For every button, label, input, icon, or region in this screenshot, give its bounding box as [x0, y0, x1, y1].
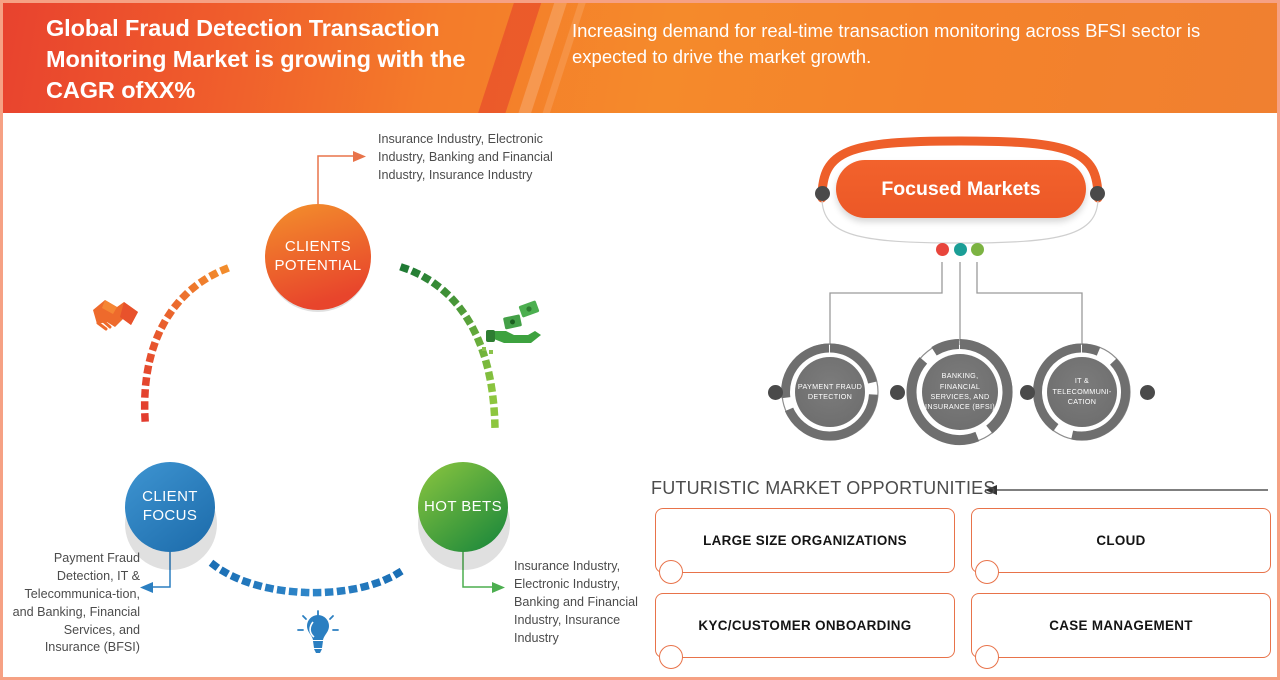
market-node-bfsi[interactable]: BANKING, FINANCIAL SERVICES, AND INSURAN…	[922, 354, 998, 430]
opportunity-box-kyc-customer-onboarding[interactable]: KYC/CUSTOMER ONBOARDING	[655, 593, 955, 658]
market-node-1-dot-right	[890, 385, 905, 400]
opportunity-marker-4	[975, 645, 999, 669]
dotted-arc-green	[404, 268, 495, 430]
stem-dot-red	[936, 243, 949, 256]
dotted-arc-orange	[145, 266, 234, 418]
header-subtitle: Increasing demand for real-time transact…	[572, 18, 1232, 71]
market-node-2-dot-right	[1020, 385, 1035, 400]
opportunity-marker-1	[659, 560, 683, 584]
opportunity-label-3: KYC/CUSTOMER ONBOARDING	[698, 618, 911, 633]
opportunity-marker-2	[975, 560, 999, 584]
client-focus-node[interactable]: CLIENT FOCUS	[125, 462, 215, 552]
leader-arrow-clients-potential	[353, 151, 366, 162]
focused-markets-label: Focused Markets	[881, 178, 1040, 201]
market-node-1-label: PAYMENT FRAUD DETECTION	[794, 382, 866, 403]
opportunity-box-case-management[interactable]: CASE MANAGEMENT	[971, 593, 1271, 658]
infographic-page: Global Fraud Detection Transaction Monit…	[0, 0, 1280, 680]
market-node-3-label: IT & TELECOMMUNI- CATION	[1046, 376, 1118, 407]
clients-potential-label: CLIENTS POTENTIAL	[265, 238, 371, 276]
market-node-payment-fraud-detection[interactable]: PAYMENT FRAUD DETECTION	[794, 356, 866, 428]
market-node-1-dot-left	[768, 385, 783, 400]
stem-line-right	[977, 262, 1082, 345]
opportunities-heading: FUTURISTIC MARKET OPPORTUNITIES	[651, 478, 996, 499]
focused-markets-pill[interactable]: Focused Markets	[836, 160, 1086, 218]
opportunity-marker-3	[659, 645, 683, 669]
opportunity-label-2: CLOUD	[1096, 533, 1145, 548]
clients-potential-node[interactable]: CLIENTS POTENTIAL	[265, 204, 371, 310]
page-title: Global Fraud Detection Transaction Monit…	[46, 13, 516, 106]
leader-arrow-client-focus	[140, 582, 153, 593]
opportunity-box-cloud[interactable]: CLOUD	[971, 508, 1271, 573]
opportunity-box-large-size-organizations[interactable]: LARGE SIZE ORGANIZATIONS	[655, 508, 955, 573]
dotted-arc-blue	[214, 565, 400, 593]
market-node-it-telecommunication[interactable]: IT & TELECOMMUNI- CATION	[1046, 356, 1118, 428]
stem-dot-green	[971, 243, 984, 256]
hot-bets-label: HOT BETS	[424, 498, 502, 517]
lightbulb-icon	[298, 611, 338, 653]
leader-arrow-hot-bets	[492, 582, 505, 593]
hot-bets-annotation: Insurance Industry, Electronic Industry,…	[514, 558, 649, 647]
client-focus-annotation: Payment Fraud Detection, IT & Telecommun…	[8, 550, 140, 657]
header-banner: Global Fraud Detection Transaction Monit…	[0, 0, 1280, 113]
opportunity-label-4: CASE MANAGEMENT	[1049, 618, 1193, 633]
clients-potential-annotation: Insurance Industry, Electronic Industry,…	[378, 131, 583, 185]
handshake-icon	[93, 300, 138, 329]
opportunity-label-1: LARGE SIZE ORGANIZATIONS	[703, 533, 907, 548]
focused-markets-dot-left	[815, 186, 830, 201]
stem-line-left	[830, 262, 942, 345]
leader-line-clients-potential	[318, 156, 355, 205]
stem-dot-teal	[954, 243, 967, 256]
hot-bets-node[interactable]: HOT BETS	[418, 462, 508, 552]
market-node-3-dot-right	[1140, 385, 1155, 400]
client-focus-label: CLIENT FOCUS	[125, 488, 215, 526]
market-node-2-label: BANKING, FINANCIAL SERVICES, AND INSURAN…	[922, 371, 998, 413]
money-in-hand-icon	[482, 300, 541, 354]
focused-markets-dot-right	[1090, 186, 1105, 201]
